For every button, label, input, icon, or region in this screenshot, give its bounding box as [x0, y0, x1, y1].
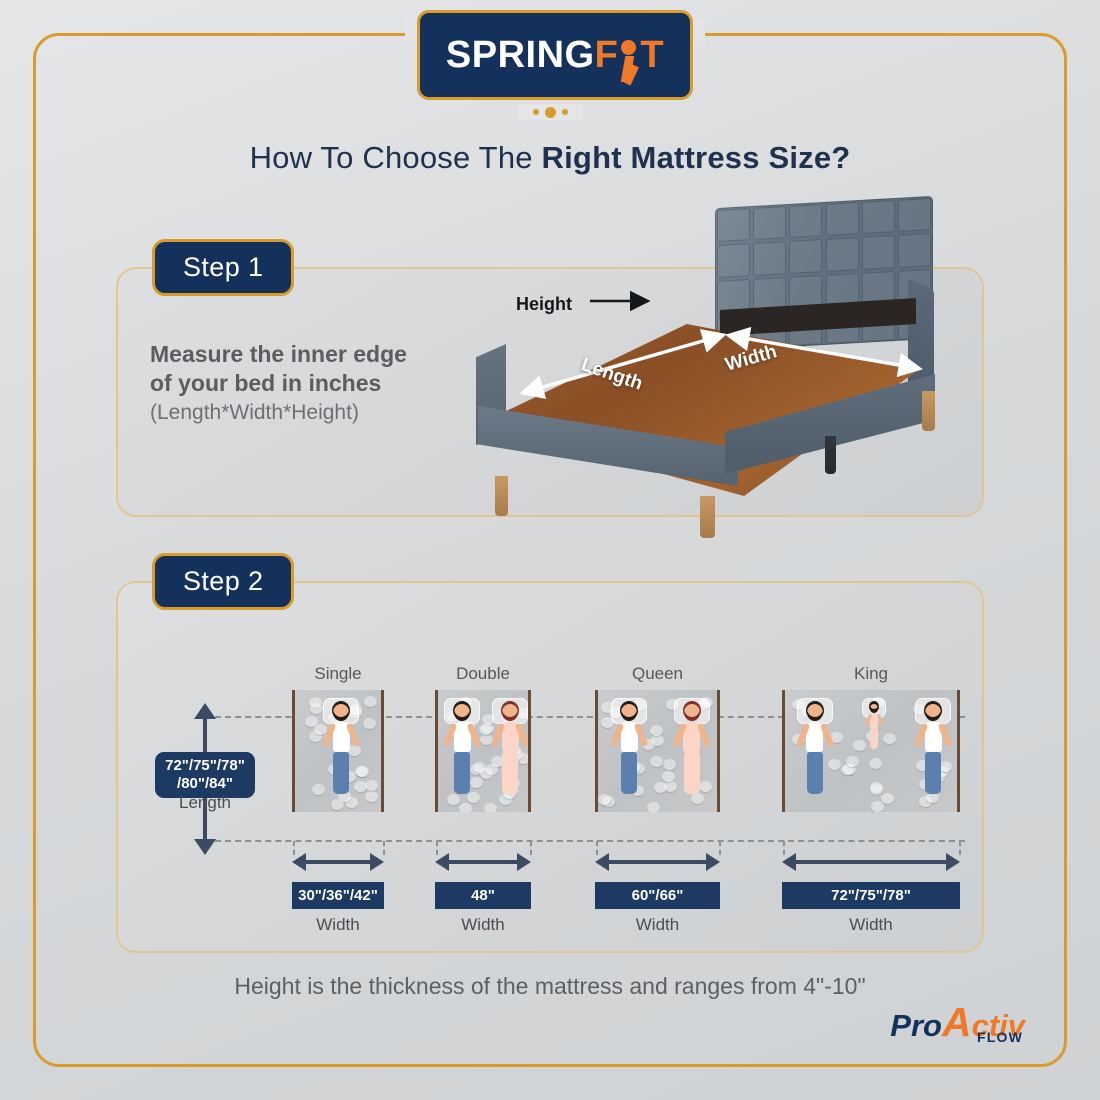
- arrow-bar: [607, 860, 708, 864]
- quilt-dimple: [365, 791, 378, 802]
- width-value-badge-single: 30"/36"/42": [292, 882, 384, 909]
- arrow-right-icon: [946, 853, 960, 871]
- bed-illustration: Length Width Height: [470, 196, 980, 541]
- bed-leg-rear-right: [922, 391, 935, 431]
- sleeper-female: [678, 702, 706, 802]
- width-value-badge-queen: 60"/66": [595, 882, 720, 909]
- sleeper-legs: [870, 728, 878, 749]
- mattress-single: Single: [292, 690, 384, 812]
- width-group-single: 30"/36"/42"Width: [292, 853, 384, 935]
- quilt-dimple: [365, 780, 378, 791]
- width-value-badge-double: 48": [435, 882, 531, 909]
- proactiv-flow-text: FLOW: [977, 1029, 1023, 1045]
- width-value-badge-king: 72"/75"/78": [782, 882, 960, 909]
- step-1-line-1: Measure the inner edge: [150, 340, 480, 369]
- width-dimension-arrow: [595, 853, 720, 871]
- arrow-right-icon: [517, 853, 531, 871]
- proactiv-pro-text: Pro: [890, 1010, 942, 1041]
- width-group-double: 48"Width: [435, 853, 531, 935]
- arrow-right-icon: [370, 853, 384, 871]
- width-word-label: Width: [435, 915, 531, 935]
- frame-dot-ornament: [517, 104, 583, 120]
- sleeper-head: [684, 704, 700, 721]
- length-value-badge: 72"/75"/78" /80"/84": [155, 752, 255, 798]
- logo-t-text: T: [640, 36, 664, 74]
- mattress-label-single: Single: [292, 664, 384, 684]
- springfit-logo: SPRINGFT: [417, 10, 693, 100]
- length-guide-bottom: [205, 840, 965, 842]
- quilt-dimple: [828, 759, 841, 770]
- sleeper-male: [615, 702, 643, 802]
- mattress-label-double: Double: [435, 664, 531, 684]
- length-value-line-2: /80"/84": [158, 775, 252, 793]
- page-title-bold: Right Mattress Size?: [542, 140, 851, 175]
- quilt-dimple: [484, 803, 497, 812]
- quilt-dimple: [663, 759, 676, 770]
- arrow-bar: [794, 860, 948, 864]
- bed-leg-front-center: [700, 496, 715, 538]
- mattress-queen: Queen: [595, 690, 720, 812]
- mattress-king: King: [782, 690, 960, 812]
- width-dimension-arrow: [292, 853, 384, 871]
- sleeper-legs: [454, 752, 470, 794]
- sleeper-legs: [684, 752, 700, 794]
- mattress-label-king: King: [782, 664, 960, 684]
- arrow-up-icon: [194, 703, 216, 719]
- arrow-down-icon: [194, 839, 216, 855]
- headboard-tuft: [898, 197, 931, 232]
- bed-leg-rear-center: [825, 436, 836, 474]
- headboard-tuft: [753, 241, 786, 276]
- sleeper-baby: [860, 702, 888, 802]
- sleeper-head: [870, 704, 878, 713]
- quilt-dimple: [654, 782, 667, 793]
- step-1-badge: Step 1: [152, 239, 294, 296]
- headboard-tuft: [789, 239, 822, 274]
- width-word-label: Width: [292, 915, 384, 935]
- mattress-label-queen: Queen: [595, 664, 720, 684]
- width-word-label: Width: [595, 915, 720, 935]
- mattress-size-row: SingleDoubleQueenKing: [270, 690, 980, 840]
- footer-note: Height is the thickness of the mattress …: [0, 973, 1100, 1000]
- sleeper-legs: [333, 752, 349, 794]
- headboard-tuft: [862, 200, 895, 235]
- quilt-dimple: [356, 766, 369, 777]
- step-1-line-2: of your bed in inches: [150, 369, 480, 398]
- step-2-badge: Step 2: [152, 553, 294, 610]
- sleeper-head: [807, 704, 823, 721]
- mattress-surface: [435, 690, 531, 812]
- logo-f-text: F: [595, 36, 619, 74]
- quilt-dimple: [459, 803, 472, 812]
- quilt-dimple: [480, 768, 493, 779]
- quilt-dimple: [364, 696, 377, 707]
- headboard-tuft: [717, 243, 750, 278]
- quilt-dimple: [310, 703, 323, 714]
- length-value-line-1: 72"/75"/78": [158, 757, 252, 775]
- sleeper-legs: [925, 752, 941, 794]
- sleeper-male: [919, 702, 947, 802]
- headboard-tuft: [717, 208, 750, 243]
- sleeper-head: [502, 704, 518, 721]
- width-group-queen: 60"/66"Width: [595, 853, 720, 935]
- mattress-surface: [782, 690, 960, 812]
- logo-text: SPRINGFT: [446, 36, 664, 74]
- logo-spring-text: SPRING: [446, 36, 595, 74]
- sleeper-female: [496, 702, 524, 802]
- page-title: How To Choose The Right Mattress Size?: [0, 140, 1100, 176]
- quilt-dimple: [871, 801, 884, 812]
- width-word-label: Width: [782, 915, 960, 935]
- headboard-tuft: [789, 204, 822, 239]
- arrow-bar: [304, 860, 372, 864]
- sleeper-male: [448, 702, 476, 802]
- sleeper-legs: [502, 752, 518, 794]
- mattress-surface: [292, 690, 384, 812]
- sleeper-head: [454, 704, 470, 721]
- width-dimension-arrow: [782, 853, 960, 871]
- step-1-instruction: Measure the inner edge of your bed in in…: [150, 340, 480, 425]
- bed-leg-front-left: [495, 476, 508, 516]
- quilt-dimple: [650, 756, 663, 767]
- width-dimension-arrow: [435, 853, 531, 871]
- sleeper-head: [333, 704, 349, 721]
- arrow-bar: [447, 860, 519, 864]
- headboard-tuft: [898, 233, 931, 268]
- sleeper-head: [621, 704, 637, 721]
- length-word-label: Length: [155, 793, 255, 813]
- sleeper-male: [327, 702, 355, 802]
- sleeper-male: [801, 702, 829, 802]
- sleeper-legs: [807, 752, 823, 794]
- mattress-double: Double: [435, 690, 531, 812]
- proactiv-flow-logo: ProActiv FLOW: [890, 1002, 1025, 1044]
- quilt-dimple: [647, 802, 660, 812]
- arrow-right-icon: [706, 853, 720, 871]
- mattress-surface: [595, 690, 720, 812]
- page-title-regular: How To Choose The: [250, 140, 542, 175]
- quilt-dimple: [479, 724, 492, 735]
- width-group-king: 72"/75"/78"Width: [782, 853, 960, 935]
- quilt-dimple: [363, 718, 376, 729]
- headboard-tuft: [826, 237, 859, 272]
- sleeper-legs: [621, 752, 637, 794]
- bed-height-label: Height: [516, 294, 572, 315]
- headboard-tuft: [862, 235, 895, 270]
- quilt-dimple: [312, 784, 325, 795]
- step-1-line-3: (Length*Width*Height): [150, 401, 480, 425]
- quilt-dimple: [846, 756, 859, 767]
- sleeper-head: [925, 704, 941, 721]
- headboard-tuft: [753, 206, 786, 241]
- headboard-tuft: [826, 202, 859, 237]
- proactiv-a-text: A: [942, 1002, 972, 1043]
